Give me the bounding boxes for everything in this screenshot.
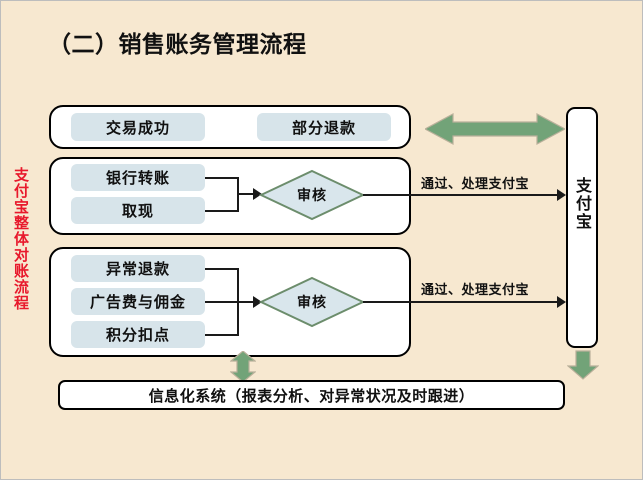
connector-line <box>205 210 239 212</box>
flow-line-to-alipay-1 <box>363 194 559 196</box>
arrow-head-icon <box>557 189 566 201</box>
down-arrow-icon <box>567 350 599 380</box>
alipay-box-label: 支付宝 <box>573 177 591 231</box>
connector-line <box>205 268 239 270</box>
chip-points-deduction[interactable]: 积分扣点 <box>71 321 205 348</box>
decision-review-1-label: 审核 <box>259 169 365 221</box>
flow-line-to-alipay-2 <box>363 301 559 303</box>
chip-ad-fee-commission[interactable]: 广告费与佣金 <box>71 288 205 315</box>
connector-line <box>205 334 239 336</box>
decision-review-2-label: 审核 <box>259 276 365 328</box>
flow-label-1: 通过、处理支付宝 <box>421 173 529 192</box>
double-arrow-vertical-icon <box>230 351 256 382</box>
slide-canvas: （二）销售账务管理流程 支付宝整体对账流程 交易成功 部分退款 银行转账 取现 … <box>0 0 643 480</box>
flow-label-2: 通过、处理支付宝 <box>421 279 529 298</box>
connector-line <box>205 177 239 179</box>
bottom-bar-label: 信息化系统（报表分析、对异常状况及时跟进） <box>149 385 475 406</box>
page-title: （二）销售账务管理流程 <box>48 25 307 59</box>
decision-review-1[interactable]: 审核 <box>259 169 365 221</box>
chip-abnormal-refund[interactable]: 异常退款 <box>71 255 205 282</box>
bottom-information-system-bar[interactable]: 信息化系统（报表分析、对异常状况及时跟进） <box>58 380 565 410</box>
alipay-box: 支付宝 <box>566 107 598 348</box>
connector-line <box>205 301 255 303</box>
chip-bank-transfer[interactable]: 银行转账 <box>71 164 205 191</box>
decision-review-2[interactable]: 审核 <box>259 276 365 328</box>
connector-line <box>237 268 239 336</box>
chip-partial-refund[interactable]: 部分退款 <box>257 113 391 141</box>
arrow-head-icon <box>557 296 566 308</box>
chip-transaction-success[interactable]: 交易成功 <box>71 113 205 141</box>
chip-withdraw-cash[interactable]: 取现 <box>71 197 205 224</box>
double-arrow-horizontal-icon <box>425 112 565 146</box>
left-vertical-label: 支付宝整体对账流程 <box>5 167 29 311</box>
